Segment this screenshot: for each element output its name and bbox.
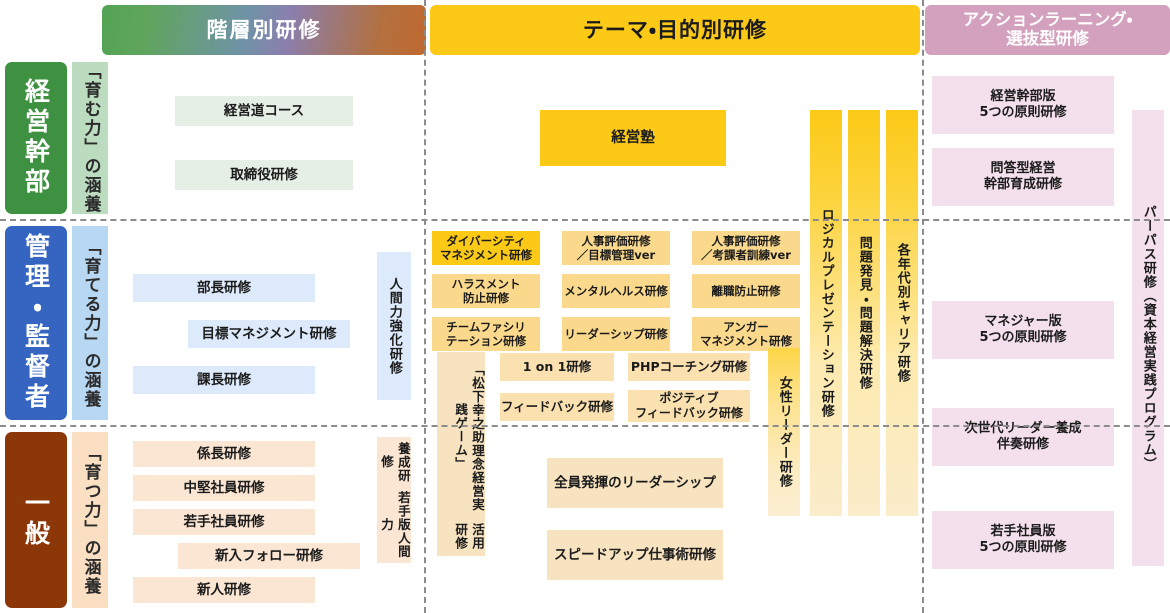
- training-chip-diversity-management[interactable]: ダイバーシティ マネジメント研修: [432, 231, 540, 265]
- power-label-manager-text: 「育てる力」の涵養: [82, 238, 99, 409]
- training-chip-mokuhyo-management[interactable]: 目標マネジメント研修: [188, 320, 350, 348]
- chip-label: 新入フォロー研修: [215, 548, 323, 565]
- chip-label: 問題発見・問題解決研修: [855, 236, 873, 390]
- training-chip-logical-presentation[interactable]: ロジカルプレゼンテーション研修: [810, 110, 842, 516]
- power-label-executive: 「育む力」の涵養: [72, 62, 108, 214]
- chip-label: 取締役研修: [230, 167, 298, 184]
- rank-label-manager: 管理・監督者: [5, 226, 67, 420]
- training-chip-purpose-kenshu[interactable]: パーパス研修（資本経営実践プログラム）: [1132, 110, 1164, 566]
- chip-label-line2: マネジメント研修: [440, 248, 532, 262]
- training-chip-kakunendai-career[interactable]: 各年代別キャリア研修: [886, 110, 918, 516]
- chip-label: リーダーシップ研修: [564, 327, 667, 341]
- rank-label-executive: 経営幹部: [5, 62, 67, 214]
- chip-label-line1: 経営幹部版: [990, 89, 1055, 105]
- training-chip-zenin-hakki-leadership[interactable]: 全員発揮のリーダーシップ: [547, 458, 723, 508]
- training-chip-positive-feedback[interactable]: ポジティブ フィードバック研修: [628, 390, 750, 422]
- training-chip-keieido-course[interactable]: 経営道コース: [175, 96, 353, 126]
- divider-theme-action: [922, 0, 924, 613]
- training-chip-kakarichou[interactable]: 係長研修: [133, 441, 315, 467]
- chip-label-line2: テーション研修: [446, 334, 526, 348]
- power-label-general-text: 「育つ力」の涵養: [82, 444, 99, 596]
- chip-label-line1: 人事評価研修: [712, 234, 781, 248]
- chip-label: 経営道コース: [224, 103, 304, 120]
- rank-label-manager-text: 管理・監督者: [24, 233, 49, 413]
- training-chip-php-coaching[interactable]: PHPコーチング研修: [628, 353, 750, 381]
- training-chip-team-facilitation[interactable]: チームファシリ テーション研修: [432, 317, 540, 351]
- chip-label: 経営塾: [611, 129, 655, 147]
- chip-label-line2: 防止研修: [463, 291, 509, 305]
- chip-label: 若手社員研修: [184, 514, 265, 531]
- training-chip-anger-management[interactable]: アンガー マネジメント研修: [692, 317, 800, 351]
- chip-label: 部長研修: [197, 280, 251, 297]
- chip-label-line2: マネジメント研修: [700, 334, 792, 348]
- training-chip-leadership[interactable]: リーダーシップ研修: [562, 317, 670, 351]
- training-chip-manager-5principles[interactable]: マネジャー版 5つの原則研修: [932, 301, 1114, 359]
- divider-manager-general: [0, 425, 1170, 427]
- chip-label-line2: 5つの原則研修: [979, 540, 1066, 556]
- training-chip-buchou[interactable]: 部長研修: [133, 274, 315, 302]
- chip-label-line1: ダイバーシティ: [446, 234, 525, 248]
- training-chip-josei-leader[interactable]: 女性リーダー研修: [768, 348, 800, 516]
- training-chip-mental-health[interactable]: メンタルヘルス研修: [562, 274, 670, 308]
- chip-label-line2: 幹部育成研修: [984, 177, 1062, 193]
- chip-label: 女性リーダー研修: [775, 376, 793, 488]
- chip-label-line1: 問答型経営: [990, 161, 1055, 177]
- training-matrix-diagram: 階層別研修 テーマ・目的別研修 アクションラーニング・ 選抜型研修 経営幹部 管…: [0, 0, 1170, 613]
- chip-label-line1: 若手社員版: [990, 524, 1055, 540]
- chip-label-line1: ハラスメント: [452, 277, 521, 291]
- chip-label-line2: 伴奏研修: [997, 437, 1049, 453]
- chip-label: 人間力強化研修: [385, 277, 403, 375]
- chip-label-line2: 5つの原則研修: [979, 330, 1066, 346]
- header-kaisou-label: 階層別研修: [207, 18, 322, 42]
- training-chip-jinji-hyoka-mokuhyo[interactable]: 人事評価研修 ／目標管理ver: [562, 231, 670, 265]
- chip-label-line1: チームファシリ: [446, 320, 525, 334]
- chip-label: 中堅社員研修: [184, 480, 265, 497]
- chip-label: 係長研修: [197, 446, 251, 463]
- header-action-label-line2: 選抜型研修: [1006, 30, 1089, 49]
- chip-label: パーパス研修（資本経営実践プログラム）: [1139, 205, 1157, 471]
- rank-label-general-text: 一般: [24, 490, 49, 550]
- header-kaisou-kenshu: 階層別研修: [102, 5, 426, 55]
- training-chip-keieijuku[interactable]: 経営塾: [540, 110, 726, 166]
- chip-label-line2: ／考課者訓練ver: [701, 248, 791, 262]
- chip-label: 全員発揮のリーダーシップ: [554, 475, 716, 492]
- training-chip-jinji-hyoka-kokasha[interactable]: 人事評価研修 ／考課者訓練ver: [692, 231, 800, 265]
- training-chip-keieikanbu-5principles[interactable]: 経営幹部版 5つの原則研修: [932, 76, 1114, 134]
- chip-label-line2: ／目標管理ver: [577, 248, 655, 262]
- rank-label-general: 一般: [5, 432, 67, 608]
- power-label-manager: 「育てる力」の涵養: [72, 226, 108, 420]
- chip-label: メンタルヘルス研修: [564, 284, 668, 298]
- chip-label-line2: 5つの原則研修: [979, 105, 1066, 121]
- training-chip-wakate-shain[interactable]: 若手社員研修: [133, 509, 315, 535]
- chip-label-line2: 養成研修: [377, 437, 411, 487]
- chip-label: PHPコーチング研修: [631, 359, 747, 375]
- chip-label-line1: 人事評価研修: [582, 234, 651, 248]
- training-chip-rishoku-boushi[interactable]: 離職防止研修: [692, 274, 800, 308]
- training-chip-mondai-hakken-kaiketsu[interactable]: 問題発見・問題解決研修: [848, 110, 880, 516]
- training-chip-wakateban-ningenryoku[interactable]: 養成研修 若手版人間力: [377, 437, 411, 563]
- training-chip-kachou[interactable]: 課長研修: [133, 366, 315, 394]
- rank-label-executive-text: 経営幹部: [24, 78, 49, 198]
- chip-label: 各年代別キャリア研修: [893, 243, 911, 383]
- training-chip-1on1[interactable]: 1 on 1研修: [500, 353, 614, 381]
- chip-label: スピードアップ仕事術研修: [554, 547, 716, 564]
- training-chip-matsushita-rinen-keiei-game[interactable]: 「松下幸之助理念経営実践ゲーム」 活用研修: [437, 352, 485, 556]
- chip-label-line1: マネジャー版: [984, 314, 1061, 330]
- training-chip-torishimariyaku[interactable]: 取締役研修: [175, 160, 353, 190]
- header-action-label-line1: アクションラーニング・: [963, 11, 1133, 30]
- training-chip-speedup-shigotojutsu[interactable]: スピードアップ仕事術研修: [547, 530, 723, 580]
- header-action-learning: アクションラーニング・ 選抜型研修: [925, 5, 1170, 55]
- header-theme-mokuteki-kenshu: テーマ・目的別研修: [430, 5, 920, 55]
- training-chip-chuken-shain[interactable]: 中堅社員研修: [133, 475, 315, 501]
- training-chip-mondoukata-keiei[interactable]: 問答型経営 幹部育成研修: [932, 148, 1114, 206]
- power-label-general: 「育つ力」の涵養: [72, 432, 108, 608]
- training-chip-harassment-boushi[interactable]: ハラスメント 防止研修: [432, 274, 540, 308]
- chip-label: 1 on 1研修: [523, 359, 592, 375]
- chip-label: 目標マネジメント研修: [202, 326, 337, 343]
- training-chip-jisedai-leader-bansou[interactable]: 次世代リーダー養成 伴奏研修: [932, 408, 1114, 466]
- training-chip-shinnyu-follow[interactable]: 新入フォロー研修: [178, 543, 360, 569]
- training-chip-shinjin[interactable]: 新人研修: [133, 577, 315, 603]
- chip-label-line1: 次世代リーダー養成: [964, 421, 1081, 437]
- divider-kaisou-theme: [424, 0, 426, 613]
- divider-exec-manager: [0, 219, 1170, 221]
- chip-label: 新人研修: [197, 582, 251, 599]
- chip-label-line2: フィードバック研修: [635, 406, 743, 421]
- training-chip-feedback[interactable]: フィードバック研修: [500, 393, 614, 421]
- chip-label: フィードバック研修: [501, 399, 613, 415]
- header-theme-label: テーマ・目的別研修: [583, 18, 767, 42]
- chip-label: 課長研修: [197, 372, 251, 389]
- chip-label-line2: 活用研修: [451, 516, 485, 556]
- training-chip-wakate-shain-5principles[interactable]: 若手社員版 5つの原則研修: [932, 511, 1114, 569]
- chip-label-line1: ポジティブ: [659, 391, 718, 406]
- chip-label-line1: 「松下幸之助理念経営実践ゲーム」: [451, 358, 485, 516]
- training-chip-ningenryoku-kyouka[interactable]: 人間力強化研修: [377, 252, 411, 400]
- chip-label-line1: 若手版人間力: [377, 487, 411, 563]
- chip-label: ロジカルプレゼンテーション研修: [817, 208, 835, 418]
- chip-label: 離職防止研修: [712, 284, 781, 298]
- power-label-executive-text: 「育む力」の涵養: [82, 62, 99, 214]
- chip-label-line1: アンガー: [723, 320, 769, 334]
